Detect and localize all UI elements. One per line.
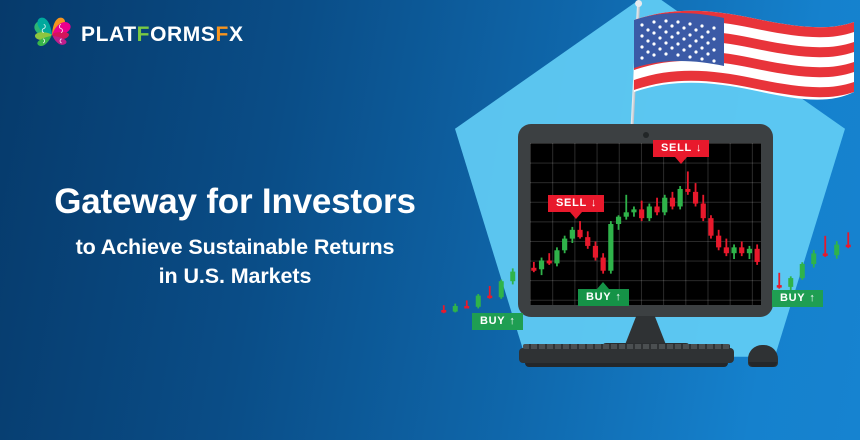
promo-banner: PLATFORMSFX Gateway for Investors to Ach… <box>0 0 860 440</box>
webcam-icon <box>643 132 649 138</box>
us-flag <box>612 0 832 120</box>
arrow-down-icon: ↓ <box>696 143 702 154</box>
signal-label: SELL <box>556 198 587 209</box>
signal-label: BUY <box>480 316 505 327</box>
signal-tag-buy-screen[interactable]: BUY ↑ <box>578 289 629 306</box>
signal-tag-buy-right[interactable]: BUY ↑ <box>772 290 823 307</box>
signal-tag-sell-2[interactable]: SELL ↓ <box>653 140 709 157</box>
signal-tag-buy-left[interactable]: BUY ↑ <box>472 313 523 330</box>
arrow-up-icon: ↑ <box>809 293 815 304</box>
arrow-up-icon: ↑ <box>509 316 515 327</box>
monitor-screen <box>530 143 761 305</box>
side-chart-left <box>438 232 530 324</box>
brand-name: PLATFORMSFX <box>81 24 244 45</box>
signal-label: SELL <box>661 143 692 154</box>
headline-subtitle-line1: to Achieve Sustainable Returns <box>76 235 395 259</box>
signal-label: BUY <box>586 292 611 303</box>
brand-logo[interactable]: PLATFORMSFX <box>30 12 244 56</box>
headline-subtitle-line2: in U.S. Markets <box>159 264 312 288</box>
headline-title: Gateway for Investors <box>0 182 470 221</box>
candlestick-chart <box>530 143 761 305</box>
brand-name-part3: X <box>229 23 244 46</box>
keyboard-icon <box>519 348 734 363</box>
mouse-icon <box>748 345 778 367</box>
us-flag-icon <box>634 6 854 126</box>
signal-label: BUY <box>780 293 805 304</box>
butterfly-logo-icon <box>30 14 74 54</box>
brand-name-part1: PLAT <box>81 23 137 46</box>
arrow-down-icon: ↓ <box>591 198 597 209</box>
brand-name-part2: ORMS <box>150 23 215 46</box>
signal-tag-sell-1[interactable]: SELL ↓ <box>548 195 604 212</box>
arrow-up-icon: ↑ <box>615 292 621 303</box>
headline-block: Gateway for Investors to Achieve Sustain… <box>0 182 470 291</box>
brand-name-accent2: F <box>216 23 229 46</box>
desktop-monitor <box>518 124 773 317</box>
brand-name-accent1: F <box>137 23 150 46</box>
headline-subtitle: to Achieve Sustainable Returns in U.S. M… <box>0 233 470 291</box>
